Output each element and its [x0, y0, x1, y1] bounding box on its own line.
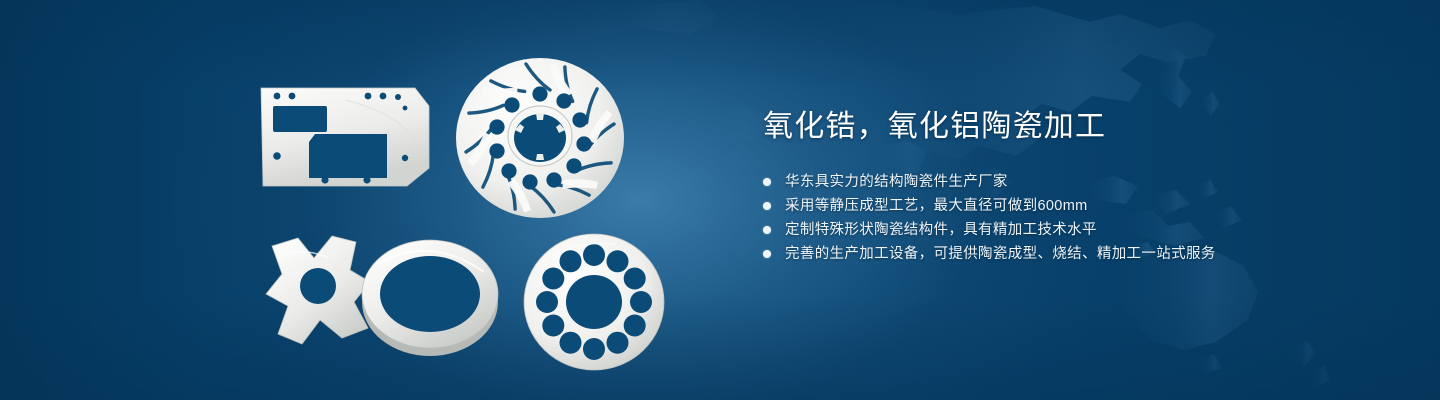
feature-text: 华东具实力的结构陶瓷件生产厂家 — [785, 170, 1008, 194]
bullet-dot-icon — [763, 202, 771, 210]
list-item: 定制特殊形状陶瓷结构件，具有精加工技术水平 — [763, 218, 1383, 242]
ceramic-plate-with-cutouts — [255, 82, 435, 192]
feature-text: 采用等静压成型工艺，最大直径可做到600mm — [785, 194, 1088, 218]
hero-banner: 氧化锆，氧化铝陶瓷加工 华东具实力的结构陶瓷件生产厂家 采用等静压成型工艺，最大… — [0, 0, 1440, 400]
list-item: 华东具实力的结构陶瓷件生产厂家 — [763, 170, 1383, 194]
feature-text: 完善的生产加工设备，可提供陶瓷成型、烧结、精加工一站式服务 — [785, 242, 1216, 266]
feature-list: 华东具实力的结构陶瓷件生产厂家 采用等静压成型工艺，最大直径可做到600mm 定… — [763, 170, 1383, 266]
product-photo-cluster — [0, 0, 740, 400]
feature-text: 定制特殊形状陶瓷结构件，具有精加工技术水平 — [785, 218, 1097, 242]
ceramic-ring — [352, 228, 510, 362]
bullet-dot-icon — [763, 250, 771, 258]
banner-text-block: 氧化锆，氧化铝陶瓷加工 华东具实力的结构陶瓷件生产厂家 采用等静压成型工艺，最大… — [763, 108, 1383, 266]
ceramic-impeller-disc — [452, 52, 628, 224]
ceramic-perforated-disc — [518, 228, 670, 376]
list-item: 采用等静压成型工艺，最大直径可做到600mm — [763, 194, 1383, 218]
page-title: 氧化锆，氧化铝陶瓷加工 — [763, 108, 1383, 146]
bullet-dot-icon — [763, 226, 771, 234]
bullet-dot-icon — [763, 178, 771, 186]
list-item: 完善的生产加工设备，可提供陶瓷成型、烧结、精加工一站式服务 — [763, 242, 1383, 266]
